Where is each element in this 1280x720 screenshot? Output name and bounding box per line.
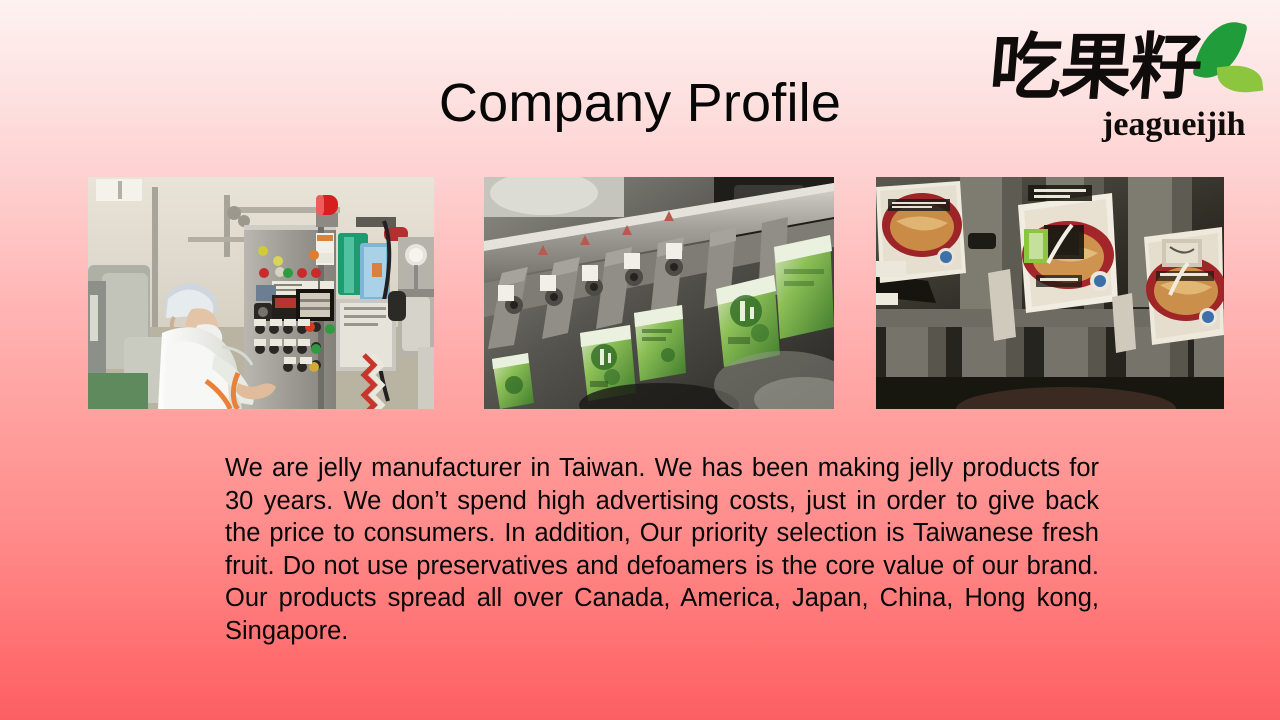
page-title: Company Profile [0, 72, 1280, 134]
photo-2-artwork [484, 177, 834, 409]
company-description-paragraph: We are jelly manufacturer in Taiwan. We … [225, 452, 1099, 680]
photo-factory-operator-control-panel [88, 177, 434, 409]
photo-1-artwork [88, 177, 434, 409]
photo-green-jelly-pouch-conveyor [484, 177, 834, 409]
photo-red-jelly-pouch-packaging-machine [876, 177, 1224, 409]
photo-3-artwork [876, 177, 1224, 409]
slide-company-profile: 吃果籽 jeagueijih Company Profile [0, 0, 1280, 720]
